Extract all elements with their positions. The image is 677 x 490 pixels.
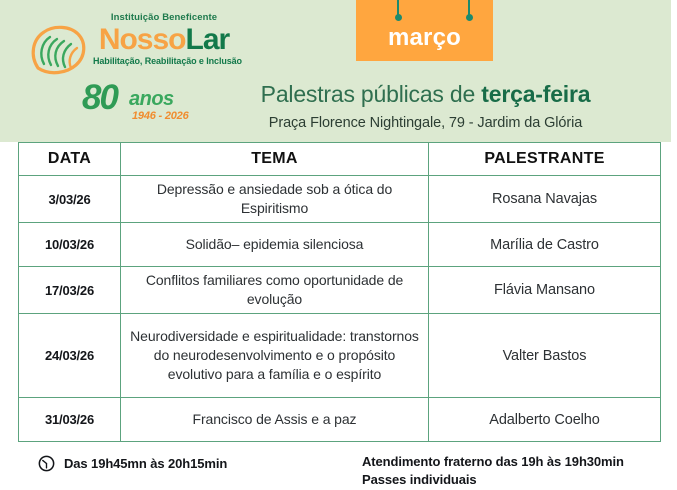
cell-speaker: Adalberto Coelho: [429, 398, 661, 442]
cell-theme: Solidão– epidemia silenciosa: [121, 223, 429, 267]
helping-hands-icon: [30, 24, 92, 76]
footer-service-info: Atendimento fraterno das 19h às 19h30min…: [362, 453, 624, 489]
page-title-emphasis: terça-feira: [481, 81, 590, 107]
cell-speaker: Valter Bastos: [429, 314, 661, 398]
cell-date: 24/03/26: [19, 314, 121, 398]
cell-date: 10/03/26: [19, 223, 121, 267]
cell-speaker: Marília de Castro: [429, 223, 661, 267]
page-title-prefix: Palestras públicas de: [261, 81, 482, 107]
logo-name-part1: Nosso: [99, 23, 186, 56]
table-row: 31/03/26 Francisco de Assis e a paz Adal…: [19, 398, 661, 442]
cell-theme: Depressão e ansiedade sob a ótica do Esp…: [121, 176, 429, 223]
schedule-table-head: DATA TEMA PALESTRANTE: [19, 143, 661, 176]
banner-pin-left-icon: [397, 0, 399, 17]
cell-theme: Neurodiversidade e espiritualidade: tran…: [121, 314, 429, 398]
table-row: 24/03/26 Neurodiversidade e espiritualid…: [19, 314, 661, 398]
banner-pin-right-icon: [468, 0, 470, 17]
cell-theme: Francisco de Assis e a paz: [121, 398, 429, 442]
lecture-schedule-poster: Instituição Beneficente NossoLar Habilit…: [0, 0, 677, 490]
cell-date: 31/03/26: [19, 398, 121, 442]
logo-tagline: Habilitação, Reabilitação e Inclusão: [93, 56, 235, 67]
cell-theme: Conflitos familiares como oportunidade d…: [121, 267, 429, 314]
clock-icon: [38, 455, 55, 472]
venue-address: Praça Florence Nightingale, 79 - Jardim …: [0, 114, 671, 132]
cell-speaker: Rosana Navajas: [429, 176, 661, 223]
organization-logo: Instituição Beneficente NossoLar Habilit…: [30, 12, 235, 127]
footer-service-line2: Passes individuais: [362, 471, 624, 489]
footer-lecture-hours: Das 19h45mn às 20h15min: [64, 456, 227, 471]
table-header-row: DATA TEMA PALESTRANTE: [19, 143, 661, 176]
schedule-table-body: 3/03/26 Depressão e ansiedade sob a ótic…: [19, 176, 661, 442]
footer-service-line1: Atendimento fraterno das 19h às 19h30min: [362, 453, 624, 471]
logo-text-column: Instituição Beneficente NossoLar Habilit…: [93, 12, 235, 67]
logo-top-row: Instituição Beneficente NossoLar Habilit…: [30, 12, 235, 74]
logo-wordmark: NossoLar: [93, 24, 235, 56]
footer-hours-group: Das 19h45mn às 20h15min: [38, 455, 227, 472]
cell-date: 17/03/26: [19, 267, 121, 314]
column-header-theme: TEMA: [121, 143, 429, 176]
column-header-speaker: PALESTRANTE: [429, 143, 661, 176]
logo-name-part2: Lar: [186, 23, 230, 56]
poster-footer: Das 19h45mn às 20h15min Atendimento frat…: [0, 450, 677, 490]
month-banner: março: [356, 0, 493, 61]
table-row: 3/03/26 Depressão e ansiedade sob a ótic…: [19, 176, 661, 223]
month-label: março: [356, 24, 493, 52]
page-title: Palestras públicas de terça-feira: [0, 80, 671, 108]
table-row: 17/03/26 Conflitos familiares como oport…: [19, 267, 661, 314]
cell-speaker: Flávia Mansano: [429, 267, 661, 314]
cell-date: 3/03/26: [19, 176, 121, 223]
schedule-table: DATA TEMA PALESTRANTE 3/03/26 Depressão …: [18, 142, 661, 442]
column-header-date: DATA: [19, 143, 121, 176]
table-row: 10/03/26 Solidão– epidemia silenciosa Ma…: [19, 223, 661, 267]
